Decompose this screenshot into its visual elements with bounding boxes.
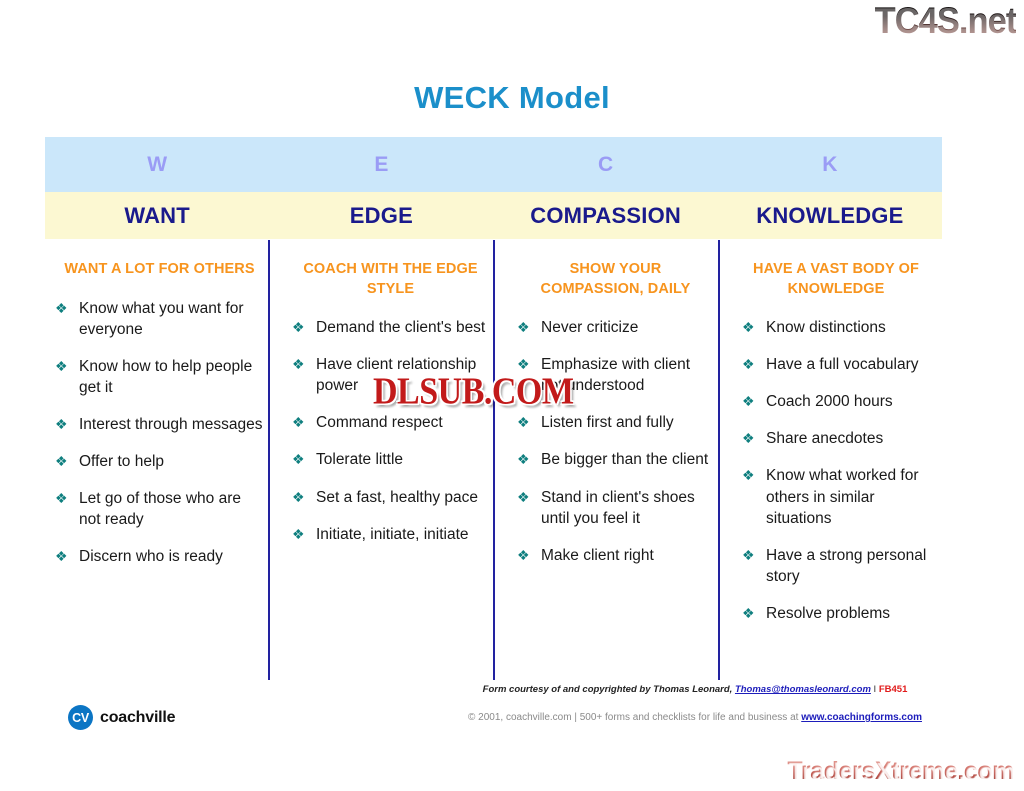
list-item: ❖Know what you want for everyone <box>55 298 264 340</box>
list-item-label: Know what worked for others in similar s… <box>766 467 919 526</box>
list-item-label: Make client right <box>541 547 654 564</box>
list-item-label: Command respect <box>316 414 443 431</box>
diamond-cluster-icon: ❖ <box>742 428 755 448</box>
list-item: ❖Resolve problems <box>742 603 938 624</box>
list-item: ❖Tolerate little <box>292 449 489 470</box>
letter-cell-w: W <box>45 137 269 192</box>
diamond-cluster-icon: ❖ <box>517 317 530 337</box>
letter-cell-c: C <box>494 137 718 192</box>
bullet-list-knowledge: ❖Know distinctions ❖Have a full vocabula… <box>742 317 938 624</box>
coachville-wordmark: coachville <box>100 709 175 727</box>
tc4s-logo: TC4S.net <box>874 2 1016 39</box>
list-item-label: Know what you want for everyone <box>79 300 244 338</box>
diamond-cluster-icon: ❖ <box>742 545 755 565</box>
footer-credit-prefix: Form courtesy of and copyrighted by Thom… <box>483 684 735 695</box>
content-columns: WANT A LOT FOR OTHERS ❖Know what you wan… <box>45 240 942 680</box>
diamond-cluster-icon: ❖ <box>55 546 68 566</box>
list-item-label: Be bigger than the client <box>541 451 708 468</box>
words-row: WANT EDGE COMPASSION KNOWLEDGE <box>45 192 942 239</box>
list-item: ❖Let go of those who are not ready <box>55 488 264 530</box>
list-item-label: Resolve problems <box>766 605 890 622</box>
list-item: ❖Set a fast, healthy pace <box>292 487 489 508</box>
letters-row: W E C K <box>45 137 942 192</box>
diamond-cluster-icon: ❖ <box>55 298 68 318</box>
list-item: ❖Interest through messages <box>55 414 264 435</box>
diamond-cluster-icon: ❖ <box>55 356 68 376</box>
list-item-label: Demand the client's best <box>316 319 485 336</box>
page-title: WECK Model <box>0 80 1024 116</box>
diamond-cluster-icon: ❖ <box>292 412 305 432</box>
list-item-label: Interest through messages <box>79 416 263 433</box>
diamond-cluster-icon: ❖ <box>55 451 68 471</box>
list-item-label: Have a full vocabulary <box>766 356 919 373</box>
list-item-label: Set a fast, healthy pace <box>316 489 478 506</box>
footer-credit: Form courtesy of and copyrighted by Thom… <box>440 684 950 695</box>
diamond-cluster-icon: ❖ <box>517 545 530 565</box>
word-cell-compassion: COMPASSION <box>494 192 718 239</box>
tradersxtreme-logo: TradersXtreme.com <box>787 757 1014 786</box>
diamond-cluster-icon: ❖ <box>292 487 305 507</box>
diamond-cluster-icon: ❖ <box>742 317 755 337</box>
diamond-cluster-icon: ❖ <box>742 603 755 623</box>
list-item: ❖Never criticize <box>517 317 714 338</box>
word-cell-knowledge: KNOWLEDGE <box>718 192 942 239</box>
word-cell-want: WANT <box>45 192 269 239</box>
column-heading-edge: COACH WITH THE EDGE STYLE <box>292 260 489 299</box>
list-item: ❖Make client right <box>517 545 714 566</box>
diamond-cluster-icon: ❖ <box>517 487 530 507</box>
bullet-list-compassion: ❖Never criticize ❖Emphasize with client … <box>517 317 714 566</box>
list-item: ❖Coach 2000 hours <box>742 391 938 412</box>
diamond-cluster-icon: ❖ <box>742 465 755 485</box>
list-item: ❖Discern who is ready <box>55 546 264 567</box>
list-item: ❖Be bigger than the client <box>517 449 714 470</box>
list-item-label: Coach 2000 hours <box>766 393 893 410</box>
diamond-cluster-icon: ❖ <box>55 488 68 508</box>
diamond-cluster-icon: ❖ <box>742 354 755 374</box>
list-item: ❖Have a strong personal story <box>742 545 938 587</box>
list-item-label: Stand in client's shoes until you feel i… <box>541 489 695 527</box>
list-item-label: Offer to help <box>79 453 164 470</box>
bullet-list-edge: ❖Demand the client's best ❖Have client r… <box>292 317 489 545</box>
list-item: ❖Demand the client's best <box>292 317 489 338</box>
weck-table: W E C K WANT EDGE COMPASSION KNOWLEDGE <box>45 137 942 239</box>
list-item: ❖Have a full vocabulary <box>742 354 938 375</box>
letter-cell-k: K <box>718 137 942 192</box>
list-item-label: Discern who is ready <box>79 548 223 565</box>
cv-badge-icon: CV <box>68 705 93 730</box>
list-item: ❖Know how to help people get it <box>55 356 264 398</box>
list-item-label: Tolerate little <box>316 451 403 468</box>
diamond-cluster-icon: ❖ <box>292 524 305 544</box>
list-item: ❖Command respect <box>292 412 489 433</box>
column-knowledge: HAVE A VAST BODY OF KNOWLEDGE ❖Know dist… <box>718 240 942 680</box>
list-item: ❖Share anecdotes <box>742 428 938 449</box>
letter-cell-e: E <box>269 137 493 192</box>
footer-credit-separator: I <box>871 684 879 695</box>
column-want: WANT A LOT FOR OTHERS ❖Know what you wan… <box>45 240 268 680</box>
list-item: ❖Know what worked for others in similar … <box>742 465 938 528</box>
word-cell-edge: EDGE <box>269 192 493 239</box>
column-heading-want: WANT A LOT FOR OTHERS <box>55 260 264 280</box>
diamond-cluster-icon: ❖ <box>292 354 305 374</box>
footer-copyright-text: © 2001, coachville.com | 500+ forms and … <box>468 712 801 723</box>
footer-copyright: © 2001, coachville.com | 500+ forms and … <box>380 712 1010 723</box>
diamond-cluster-icon: ❖ <box>55 414 68 434</box>
diamond-cluster-icon: ❖ <box>742 391 755 411</box>
list-item: ❖Initiate, initiate, initiate <box>292 524 489 545</box>
list-item-label: Initiate, initiate, initiate <box>316 526 469 543</box>
list-item-label: Let go of those who are not ready <box>79 490 241 528</box>
list-item-label: Know distinctions <box>766 319 886 336</box>
list-item-label: Never criticize <box>541 319 638 336</box>
list-item-label: Share anecdotes <box>766 430 883 447</box>
diamond-cluster-icon: ❖ <box>292 449 305 469</box>
list-item-label: Listen first and fully <box>541 414 674 431</box>
column-heading-compassion: SHOW YOUR COMPASSION, DAILY <box>517 260 714 299</box>
footer-email-link[interactable]: Thomas@thomasleonard.com <box>735 684 871 695</box>
list-item-label: Know how to help people get it <box>79 358 252 396</box>
column-edge: COACH WITH THE EDGE STYLE ❖Demand the cl… <box>268 240 493 680</box>
diamond-cluster-icon: ❖ <box>517 412 530 432</box>
bullet-list-want: ❖Know what you want for everyone ❖Know h… <box>55 298 264 568</box>
diamond-cluster-icon: ❖ <box>292 317 305 337</box>
coachville-logo: CV coachville <box>68 705 175 730</box>
dlsub-watermark: DLSUB.COM <box>373 371 573 414</box>
column-compassion: SHOW YOUR COMPASSION, DAILY ❖Never criti… <box>493 240 718 680</box>
diamond-cluster-icon: ❖ <box>517 449 530 469</box>
list-item: ❖Offer to help <box>55 451 264 472</box>
footer-site-link[interactable]: www.coachingforms.com <box>801 712 922 723</box>
footer-form-code: FB451 <box>879 684 908 695</box>
list-item: ❖Listen first and fully <box>517 412 714 433</box>
list-item-label: Have a strong personal story <box>766 547 926 585</box>
column-heading-knowledge: HAVE A VAST BODY OF KNOWLEDGE <box>734 260 938 299</box>
list-item: ❖Know distinctions <box>742 317 938 338</box>
list-item: ❖Stand in client's shoes until you feel … <box>517 487 714 529</box>
